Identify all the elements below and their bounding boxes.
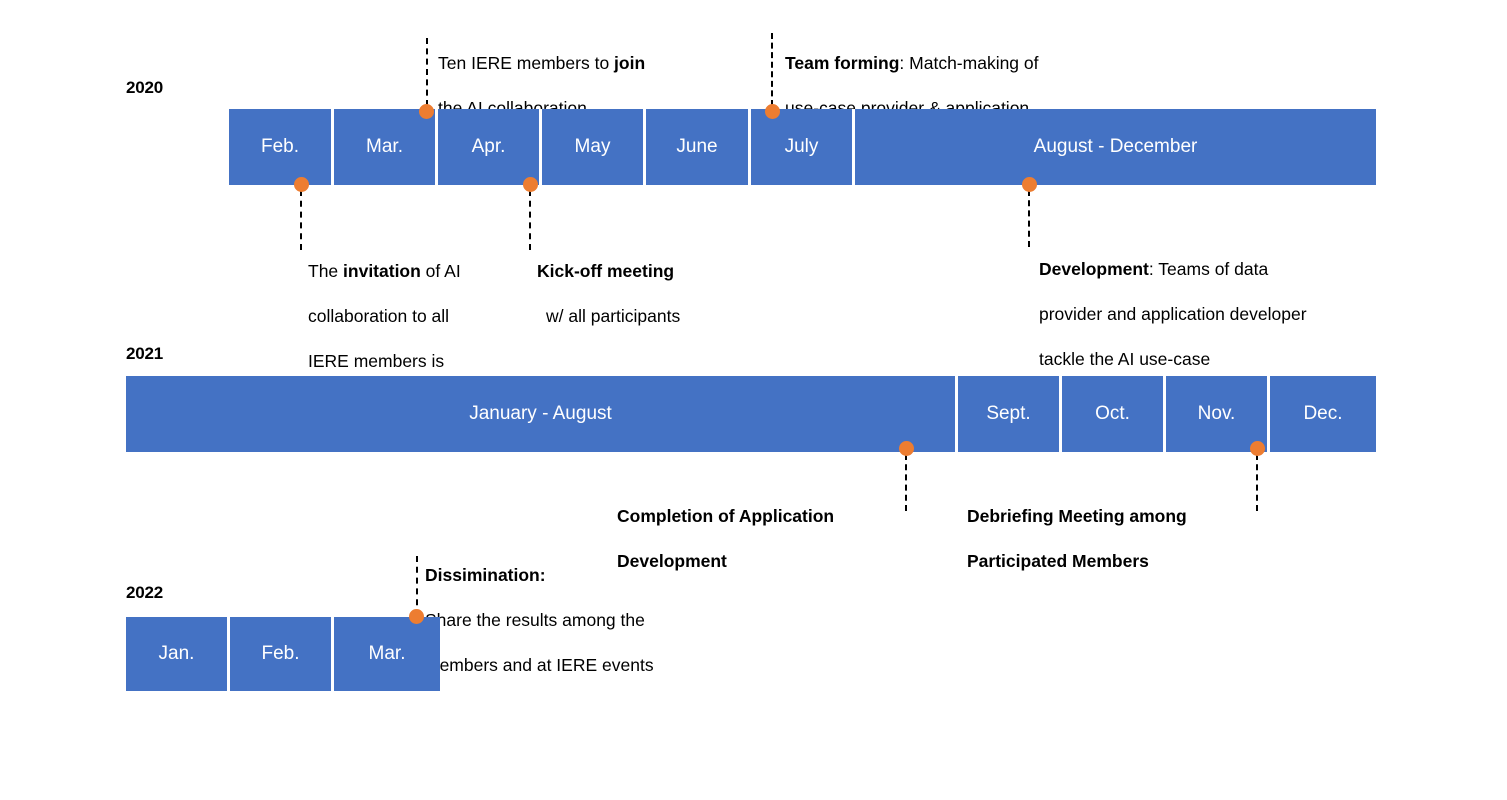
annotation-kickoff-bold: Kick-off meeting	[537, 261, 674, 281]
timeline-cell-2022-feb[interactable]: Feb.	[230, 617, 334, 691]
milestone-dot-join	[419, 104, 434, 119]
timeline-cell-2020-aug-dec[interactable]: August - December	[855, 109, 1376, 185]
timeline-cell-2020-june[interactable]: June	[646, 109, 751, 185]
milestone-dot-development	[1022, 177, 1037, 192]
year-label-2021: 2021	[126, 344, 163, 364]
annotation-join-line1-a: Ten IERE members to	[438, 53, 614, 73]
annotation-debriefing: Debriefing Meeting among Participated Me…	[967, 482, 1257, 573]
leader-line-debriefing	[1256, 454, 1258, 511]
annotation-invitation-bold: invitation	[343, 261, 421, 281]
timeline-bar-2022: Jan. Feb. Mar.	[126, 617, 440, 691]
annotation-join-line1-bold: join	[614, 53, 645, 73]
leader-line-team-forming	[771, 33, 773, 106]
annotation-team-forming-rest: : Match-making of	[899, 53, 1038, 73]
annotation-invitation-post: of AI	[421, 261, 461, 281]
leader-line-development	[1028, 190, 1030, 247]
annotation-invitation-line3: IERE members is	[308, 351, 444, 371]
timeline-diagram: 2020 Ten IERE members to join the AI col…	[0, 0, 1507, 800]
leader-line-invitation	[300, 190, 302, 250]
timeline-cell-2020-apr[interactable]: Apr.	[438, 109, 542, 185]
annotation-development: Development: Teams of data provider and …	[1039, 236, 1399, 370]
timeline-cell-2021-sept[interactable]: Sept.	[958, 376, 1062, 452]
timeline-cell-2022-jan[interactable]: Jan.	[126, 617, 230, 691]
annotation-team-forming-bold: Team forming	[785, 53, 899, 73]
annotation-development-bold: Development	[1039, 259, 1149, 279]
timeline-cell-2022-mar[interactable]: Mar.	[334, 617, 440, 691]
annotation-development-line2: provider and application developer	[1039, 304, 1307, 324]
timeline-cell-2021-dec[interactable]: Dec.	[1270, 376, 1376, 452]
timeline-bar-2021: January - August Sept. Oct. Nov. Dec.	[126, 376, 1376, 452]
timeline-cell-2020-july[interactable]: July	[751, 109, 855, 185]
annotation-development-rest: : Teams of data	[1149, 259, 1268, 279]
annotation-invitation-pre: The	[308, 261, 343, 281]
milestone-dot-invitation	[294, 177, 309, 192]
milestone-dot-debriefing	[1250, 441, 1265, 456]
annotation-kickoff-line2: w/ all participants	[537, 306, 680, 326]
annotation-kickoff: Kick-off meeting w/ all participants	[537, 238, 757, 328]
annotation-join: Ten IERE members to join the AI collabor…	[438, 30, 738, 120]
annotation-dissimination-bold: Dissimination:	[425, 565, 546, 585]
timeline-cell-2020-feb[interactable]: Feb.	[229, 109, 334, 185]
annotation-development-line3: tackle the AI use-case	[1039, 349, 1210, 369]
annotation-invitation-line2: collaboration to all	[308, 306, 449, 326]
timeline-cell-2020-mar[interactable]: Mar.	[334, 109, 438, 185]
leader-line-completion	[905, 454, 907, 511]
milestone-dot-completion	[899, 441, 914, 456]
milestone-dot-team-forming	[765, 104, 780, 119]
timeline-cell-2021-oct[interactable]: Oct.	[1062, 376, 1166, 452]
milestone-dot-dissimination	[409, 609, 424, 624]
annotation-dissimination-line3: members and at IERE events	[425, 655, 654, 675]
timeline-cell-2021-jan-aug[interactable]: January - August	[126, 376, 958, 452]
leader-line-dissimination	[416, 556, 418, 616]
timeline-cell-2020-may[interactable]: May	[542, 109, 646, 185]
timeline-bar-2020: Feb. Mar. Apr. May June July August - De…	[229, 109, 1376, 185]
milestone-dot-kickoff	[523, 177, 538, 192]
year-label-2020: 2020	[126, 78, 163, 98]
leader-line-kickoff	[529, 190, 531, 250]
annotation-debriefing-line1: Debriefing Meeting among	[967, 506, 1187, 526]
annotation-completion-line1: Completion of Application	[617, 506, 834, 526]
annotation-debriefing-line2: Participated Members	[967, 551, 1149, 571]
annotation-dissimination-line2: Share the results among the	[425, 610, 645, 630]
leader-line-join	[426, 38, 428, 106]
year-label-2022: 2022	[126, 583, 163, 603]
annotation-dissimination: Dissimination: Share the results among t…	[425, 542, 745, 676]
